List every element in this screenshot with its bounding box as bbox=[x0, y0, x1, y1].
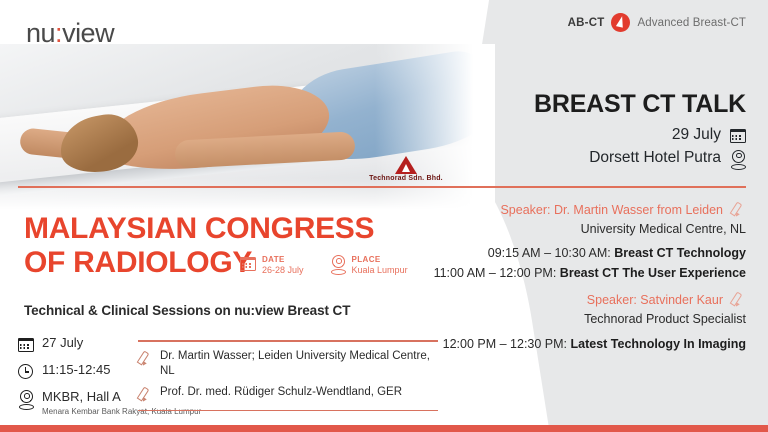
nuview-logo-pre: nu bbox=[26, 18, 55, 48]
poster-root: Technorad Sdn. Bhd. nu:view AB-CT Advanc… bbox=[0, 0, 768, 432]
nuview-logo-colon: : bbox=[55, 18, 62, 48]
session-topic: Breast CT The User Experience bbox=[560, 266, 746, 280]
nuview-logo: nu:view bbox=[26, 18, 114, 49]
session-topic: Latest Technology In Imaging bbox=[571, 337, 746, 351]
technorad-logo: Technorad Sdn. Bhd. bbox=[362, 156, 450, 182]
nuview-logo-post: view bbox=[62, 18, 114, 48]
talk-divider bbox=[18, 186, 746, 188]
event-time-row: 11:15-12:45 bbox=[18, 363, 148, 379]
speakers-divider-bottom bbox=[138, 410, 438, 412]
clock-icon bbox=[18, 363, 34, 379]
schedule-session: 09:15 AM – 10:30 AM: Breast CT Technolog… bbox=[14, 243, 746, 263]
schedule-speaker-row: Speaker: Dr. Martin Wasser from Leiden bbox=[14, 202, 746, 217]
schedule-block: Speaker: Dr. Martin Wasser from Leiden U… bbox=[14, 202, 746, 283]
schedule-speaker-affiliation: University Medical Centre, NL bbox=[14, 220, 746, 239]
schedule-speaker-affiliation: Technorad Product Specialist bbox=[14, 310, 746, 329]
talk-date-row: 29 July bbox=[589, 126, 746, 144]
schedule-speaker-row: Speaker: Satvinder Kaur bbox=[14, 292, 746, 307]
talk-date-value: 29 July bbox=[672, 126, 721, 144]
schedule-session: 11:00 AM – 12:00 PM: Breast CT The User … bbox=[14, 263, 746, 283]
location-pin-icon bbox=[18, 390, 34, 407]
session-time: 09:15 AM – 10:30 AM: bbox=[488, 246, 614, 260]
event-venue-row: MKBR, Hall A Menara Kembar Bank Rakyat, … bbox=[18, 390, 148, 417]
pencil-icon bbox=[731, 292, 746, 307]
technorad-logo-label: Technorad Sdn. Bhd. bbox=[362, 175, 450, 182]
talk-venue-value: Dorsett Hotel Putra bbox=[589, 149, 721, 167]
session-time: 12:00 PM – 12:30 PM: bbox=[443, 337, 571, 351]
schedule-session: 12:00 PM – 12:30 PM: Latest Technology I… bbox=[14, 334, 746, 354]
schedule-speaker-name: Speaker: Dr. Martin Wasser from Leiden bbox=[500, 203, 723, 217]
left-speaker-row: Prof. Dr. med. Rüdiger Schulz-Wendtland,… bbox=[138, 385, 438, 402]
talk-title: BREAST CT TALK bbox=[0, 90, 746, 119]
location-pin-icon bbox=[730, 150, 746, 167]
left-speaker-name: Prof. Dr. med. Rüdiger Schulz-Wendtland,… bbox=[160, 385, 402, 401]
abct-logo-name: Advanced Breast-CT bbox=[637, 17, 746, 29]
schedule-spacer bbox=[14, 283, 746, 292]
calendar-icon bbox=[730, 127, 746, 143]
talk-venue-row: Dorsett Hotel Putra bbox=[589, 149, 746, 167]
session-topic: Breast CT Technology bbox=[614, 246, 746, 260]
abct-logo: AB-CT Advanced Breast-CT bbox=[568, 13, 746, 32]
pencil-icon bbox=[138, 387, 153, 402]
technorad-triangle-icon bbox=[395, 156, 417, 174]
talk-meta: 29 July Dorsett Hotel Putra bbox=[589, 126, 746, 172]
abct-logo-mark-label: AB-CT bbox=[568, 17, 605, 29]
schedule-block: Speaker: Satvinder Kaur Technorad Produc… bbox=[14, 292, 746, 353]
schedule-speaker-name: Speaker: Satvinder Kaur bbox=[587, 293, 723, 307]
bottom-accent-bar bbox=[0, 425, 768, 432]
talk-schedule: Speaker: Dr. Martin Wasser from Leiden U… bbox=[14, 202, 746, 354]
event-time-value: 11:15-12:45 bbox=[42, 363, 110, 378]
pencil-icon bbox=[731, 202, 746, 217]
session-time: 11:00 AM – 12:00 PM: bbox=[434, 266, 560, 280]
abct-circle-icon bbox=[611, 13, 630, 32]
